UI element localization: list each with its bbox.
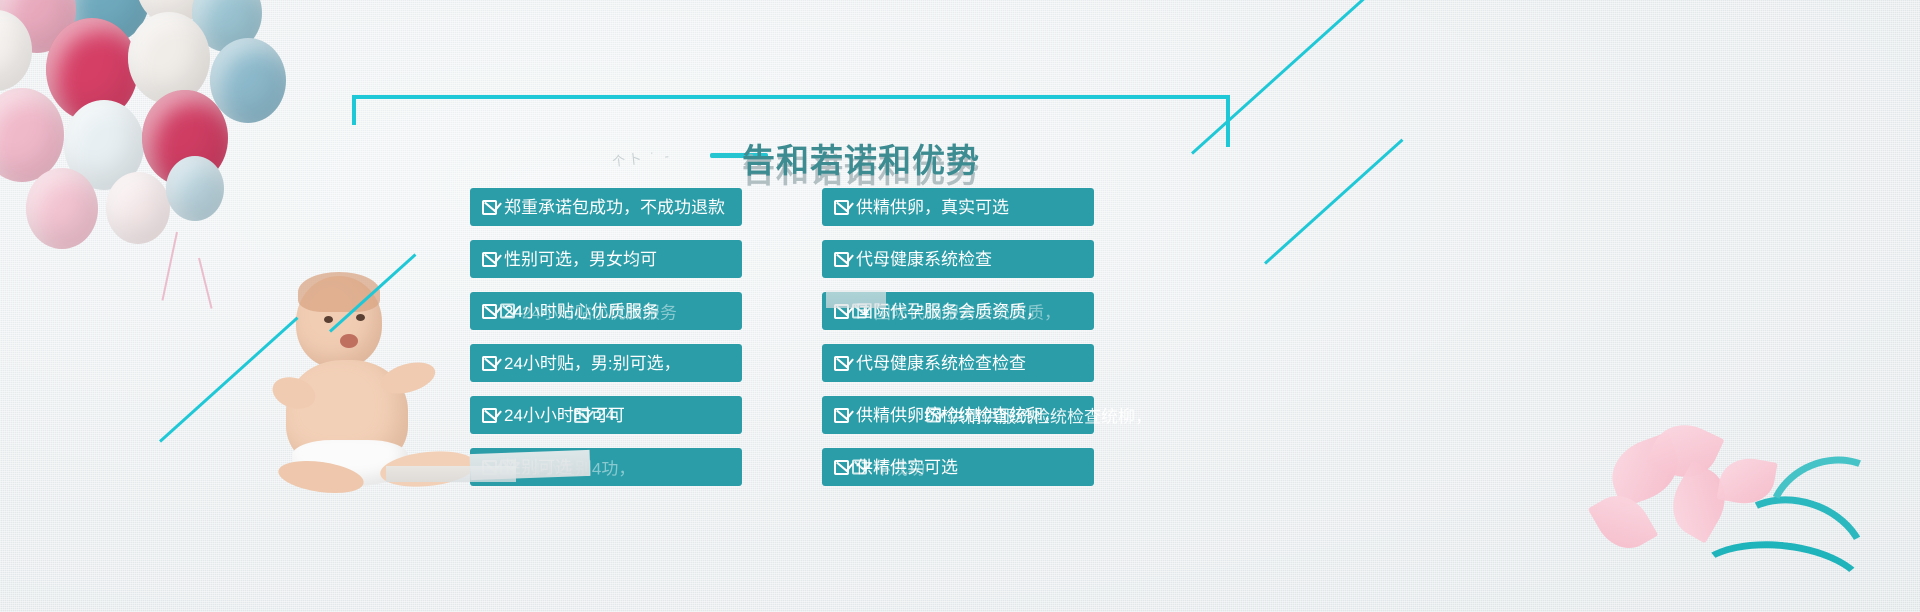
baby-hair (298, 272, 380, 312)
feature-column-right: 供精供卵，真实可选代母健康系统检查国际代孕服务会质资质，国际代确服务会统资质，代… (822, 188, 1092, 486)
feature-pill[interactable]: 供精供卵，真实可选 (822, 188, 1094, 226)
banner-title: 告和诺诺和优势 告和若诺和优势 (706, 128, 1226, 180)
feature-pill[interactable]: 供精供卵统检统检查统卵，供精供服统检统检查统柳， (822, 396, 1094, 434)
feature-pill-label: 性别可选，男女均可 (504, 251, 657, 268)
feature-pill-label: 供精供卵统检统检查统卵， (856, 407, 1060, 424)
checkmark-icon (834, 252, 849, 267)
feature-pill-label: 24小小时时可可 (504, 407, 625, 424)
checkmark-icon (482, 356, 497, 371)
feature-pill-label: 代母健康系统检查检查 (856, 355, 1026, 372)
feature-pill[interactable]: 代母健康系统检查检查 (822, 344, 1094, 382)
feature-pill[interactable]: 性别可选，男女均可 (470, 240, 742, 278)
balloon (106, 172, 170, 244)
feature-grid: 郑重承诺包成功，不成功退款性别可选，男女均可24小时贴心优质服务24小时贴小优质… (470, 188, 1110, 486)
checkmark-icon (834, 304, 849, 319)
balloon-cluster (0, 0, 390, 270)
frame-top-line (352, 95, 1230, 99)
feature-pill[interactable]: 24小时贴心优质服务24小时贴小优质服务 (470, 292, 742, 330)
feature-pill[interactable]: 郑重承诺包成功，不成功退款 (470, 188, 742, 226)
baby-eye (356, 314, 365, 321)
checkmark-icon (482, 460, 497, 475)
balloon (128, 12, 210, 104)
artifact-smudge: 个卜 ˙ - (611, 145, 673, 170)
feature-pill-label: 代母健康系统检查 (856, 251, 992, 268)
balloon (166, 156, 224, 221)
frame-left-tick (352, 95, 356, 125)
feature-pill-label: 24小时贴心优质服务 (504, 303, 659, 320)
feature-pill[interactable]: 国际代孕服务会质资质，国际代确服务会统资质， (822, 292, 1094, 330)
feature-pill-label: 供精供卵，真实可选 (856, 199, 1009, 216)
checkmark-icon (834, 408, 849, 423)
feature-pill-label: 性别可选 (504, 459, 572, 476)
baby-mouth (340, 334, 358, 348)
feature-pill-label: 供精供实可选 (856, 459, 958, 476)
feature-column-left: 郑重承诺包成功，不成功退款性别可选，男女均可24小时贴心优质服务24小时贴小优质… (470, 188, 740, 486)
feature-pill-label: 24小时贴，男:别可选， (504, 355, 681, 372)
checkmark-icon (482, 252, 497, 267)
checkmark-icon (834, 460, 849, 475)
baby-illustration (268, 268, 498, 498)
feature-pill[interactable]: 性别可选24小生别4功， (470, 448, 742, 486)
balloon (210, 38, 286, 123)
checkmark-icon (482, 200, 497, 215)
page-title: 告和若诺和优势 (742, 134, 980, 182)
checkmark-icon (482, 304, 497, 319)
baby-eye (324, 316, 333, 323)
promo-banner: 告和诺诺和优势 告和若诺和优势 个卜 ˙ - 郑重承诺包成功，不成功退款性别可选… (0, 0, 1920, 612)
feature-pill[interactable]: 供精供实可选不成功 (822, 448, 1094, 486)
diagonal-accent-2 (1264, 139, 1403, 265)
feature-pill[interactable]: 24小小时时可可24. (470, 396, 742, 434)
checkmark-icon (482, 408, 497, 423)
checkmark-icon (834, 356, 849, 371)
feature-pill-label: 郑重承诺包成功，不成功退款 (504, 199, 725, 216)
feature-pill[interactable]: 代母健康系统检查 (822, 240, 1094, 278)
checkmark-icon (834, 200, 849, 215)
flower-ribbon-decoration (1570, 402, 1920, 612)
balloon (26, 168, 98, 249)
feature-pill[interactable]: 24小时贴，男:别可选， (470, 344, 742, 382)
feature-pill-label: 国际代孕服务会质资质， (856, 303, 1043, 320)
